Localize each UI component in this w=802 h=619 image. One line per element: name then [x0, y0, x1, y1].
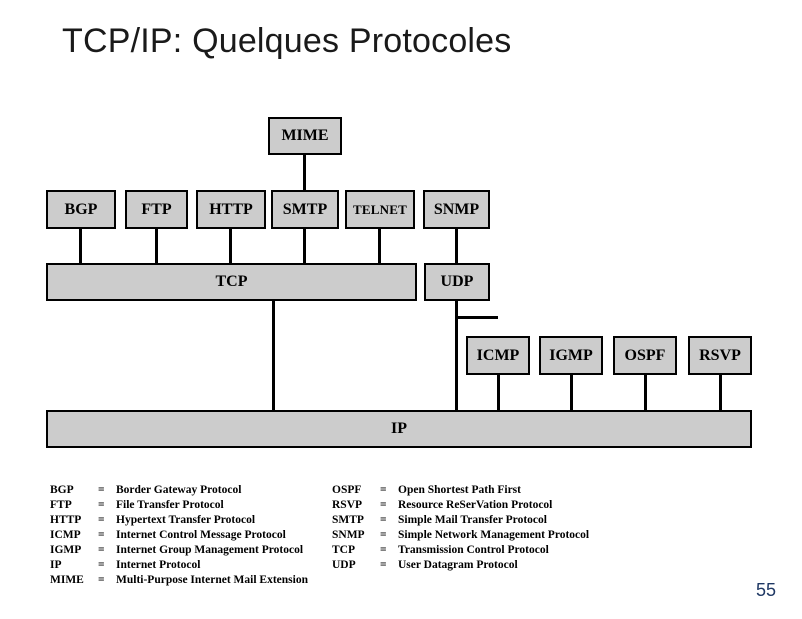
- legend-abbreviation: ICMP: [50, 529, 98, 541]
- legend-full-name: File Transfer Protocol: [116, 499, 224, 511]
- legend-row: ICMP=Internet Control Message Protocol: [50, 529, 308, 544]
- legend-row: UDP=User Datagram Protocol: [332, 559, 589, 574]
- legend-separator: =: [98, 499, 116, 511]
- legend-abbreviation: UDP: [332, 559, 380, 571]
- node-label: IP: [391, 421, 407, 437]
- page-number: 55: [756, 580, 776, 601]
- legend-row: IGMP=Internet Group Management Protocol: [50, 544, 308, 559]
- node-label: OSPF: [625, 348, 666, 364]
- connector-bgp-to-tcp: [79, 229, 82, 263]
- connector-smtp-to-tcp: [303, 229, 306, 263]
- legend-separator: =: [98, 529, 116, 541]
- node-telnet[interactable]: TELNET: [345, 190, 415, 229]
- legend-separator: =: [380, 499, 398, 511]
- legend-abbreviation: SNMP: [332, 529, 380, 541]
- legend-abbreviation: SMTP: [332, 514, 380, 526]
- legend-abbreviation: OSPF: [332, 484, 380, 496]
- node-smtp[interactable]: SMTP: [271, 190, 339, 229]
- node-label: IGMP: [549, 348, 593, 364]
- legend-row: RSVP=Resource ReSerVation Protocol: [332, 499, 589, 514]
- connector-udp-to-icmp-branch: [456, 316, 498, 319]
- connector-igmp-to-ip: [570, 375, 573, 410]
- protocol-stack-diagram: MIMEBGPFTPHTTPSMTPTELNETSNMPTCPUDPICMPIG…: [0, 0, 802, 470]
- node-ftp[interactable]: FTP: [125, 190, 188, 229]
- legend-separator: =: [98, 514, 116, 526]
- connector-rsvp-to-ip: [719, 375, 722, 410]
- legend-column-right: OSPF=Open Shortest Path FirstRSVP=Resour…: [332, 484, 589, 574]
- legend-full-name: Open Shortest Path First: [398, 484, 521, 496]
- legend-abbreviation: FTP: [50, 499, 98, 511]
- connector-snmp-to-udp: [455, 229, 458, 263]
- legend-separator: =: [98, 574, 116, 586]
- legend-separator: =: [380, 484, 398, 496]
- node-snmp[interactable]: SNMP: [423, 190, 490, 229]
- connector-tcp-to-ip: [272, 301, 275, 410]
- legend-abbreviation: HTTP: [50, 514, 98, 526]
- legend-full-name: Internet Protocol: [116, 559, 200, 571]
- legend-row: IP=Internet Protocol: [50, 559, 308, 574]
- legend-separator: =: [380, 529, 398, 541]
- node-label: BGP: [65, 202, 98, 218]
- connector-icmp-to-ip: [497, 375, 500, 410]
- legend-row: TCP=Transmission Control Protocol: [332, 544, 589, 559]
- connector-ospf-to-ip: [644, 375, 647, 410]
- node-igmp[interactable]: IGMP: [539, 336, 603, 375]
- node-tcp[interactable]: TCP: [46, 263, 417, 301]
- connector-telnet-to-tcp: [378, 229, 381, 263]
- legend-abbreviation: IGMP: [50, 544, 98, 556]
- connector-ftp-to-tcp: [155, 229, 158, 263]
- legend-full-name: Resource ReSerVation Protocol: [398, 499, 552, 511]
- legend-separator: =: [380, 514, 398, 526]
- legend-abbreviation: BGP: [50, 484, 98, 496]
- legend-abbreviation: RSVP: [332, 499, 380, 511]
- legend-abbreviation: MIME: [50, 574, 98, 586]
- node-icmp[interactable]: ICMP: [466, 336, 530, 375]
- legend-full-name: Internet Control Message Protocol: [116, 529, 286, 541]
- connector-http-to-tcp: [229, 229, 232, 263]
- node-label: RSVP: [699, 348, 741, 364]
- legend-row: OSPF=Open Shortest Path First: [332, 484, 589, 499]
- node-label: HTTP: [209, 202, 253, 218]
- legend-full-name: Simple Mail Transfer Protocol: [398, 514, 547, 526]
- node-ip[interactable]: IP: [46, 410, 752, 448]
- node-udp[interactable]: UDP: [424, 263, 490, 301]
- legend-row: MIME=Multi-Purpose Internet Mail Extensi…: [50, 574, 308, 589]
- node-label: TCP: [216, 274, 248, 290]
- legend-full-name: Hypertext Transfer Protocol: [116, 514, 255, 526]
- node-label: SMTP: [283, 202, 327, 218]
- legend-full-name: Simple Network Management Protocol: [398, 529, 589, 541]
- legend-full-name: Transmission Control Protocol: [398, 544, 549, 556]
- legend-full-name: Border Gateway Protocol: [116, 484, 241, 496]
- legend-row: SMTP=Simple Mail Transfer Protocol: [332, 514, 589, 529]
- legend-separator: =: [98, 559, 116, 571]
- node-mime[interactable]: MIME: [268, 117, 342, 155]
- legend-separator: =: [98, 544, 116, 556]
- legend-abbreviation: TCP: [332, 544, 380, 556]
- legend-abbreviation: IP: [50, 559, 98, 571]
- node-label: ICMP: [477, 348, 520, 364]
- node-label: FTP: [141, 202, 171, 218]
- connector-mime-to-smtp: [303, 155, 306, 190]
- node-label: UDP: [441, 274, 474, 290]
- legend-full-name: Internet Group Management Protocol: [116, 544, 303, 556]
- legend-row: HTTP=Hypertext Transfer Protocol: [50, 514, 308, 529]
- legend-separator: =: [98, 484, 116, 496]
- node-bgp[interactable]: BGP: [46, 190, 116, 229]
- node-label: SNMP: [434, 202, 479, 218]
- node-label: TELNET: [353, 203, 407, 216]
- legend-row: BGP=Border Gateway Protocol: [50, 484, 308, 499]
- legend-full-name: Multi-Purpose Internet Mail Extension: [116, 574, 308, 586]
- legend-full-name: User Datagram Protocol: [398, 559, 518, 571]
- legend-row: FTP=File Transfer Protocol: [50, 499, 308, 514]
- legend-separator: =: [380, 559, 398, 571]
- legend-column-left: BGP=Border Gateway ProtocolFTP=File Tran…: [50, 484, 308, 589]
- node-ospf[interactable]: OSPF: [613, 336, 677, 375]
- legend-separator: =: [380, 544, 398, 556]
- node-http[interactable]: HTTP: [196, 190, 266, 229]
- node-rsvp[interactable]: RSVP: [688, 336, 752, 375]
- node-label: MIME: [281, 128, 328, 144]
- legend-row: SNMP=Simple Network Management Protocol: [332, 529, 589, 544]
